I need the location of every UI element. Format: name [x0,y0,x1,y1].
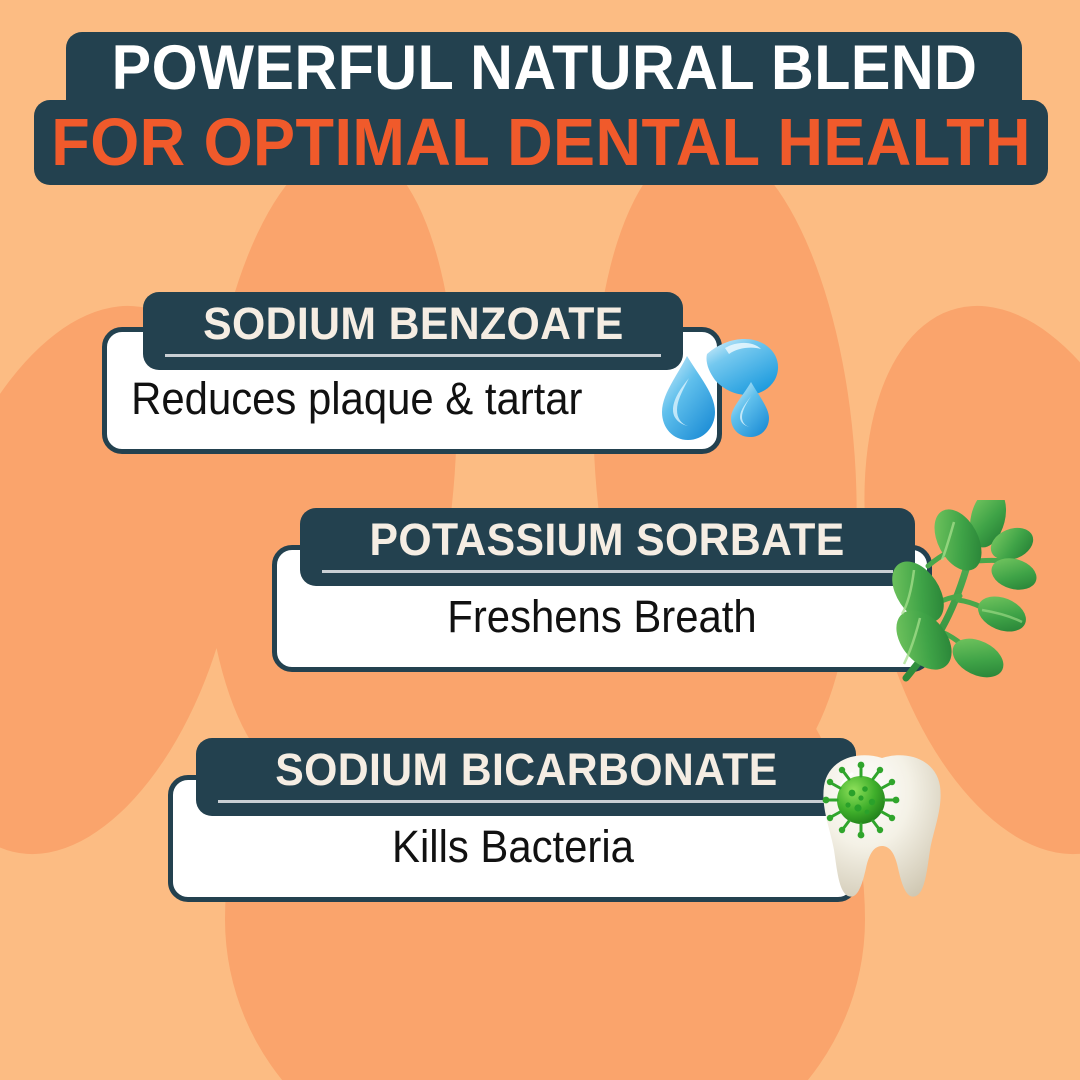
card-header: SODIUM BENZOATE [143,292,683,370]
card-title-underline [322,570,893,573]
headline-bar-bottom: FOR OPTIMAL DENTAL HEALTH [34,100,1048,185]
paw-toe-2 [183,137,477,793]
paw-toe-3 [573,132,878,799]
card-description: Freshens Breath [300,594,905,667]
card-title: SODIUM BICARBONATE [275,746,777,794]
herb-leaf-icon [862,500,1037,685]
tooth-with-bacteria-icon [812,752,952,902]
card-description: Reduces plaque & tartar [107,376,674,449]
card-header: POTASSIUM SORBATE [300,508,915,586]
headline-bar-top: POWERFUL NATURAL BLEND [66,32,1022,107]
poster-canvas: POWERFUL NATURAL BLEND FOR OPTIMAL DENTA… [0,0,1080,1080]
card-title: POTASSIUM SORBATE [370,516,845,564]
card-title: SODIUM BENZOATE [203,300,624,348]
water-droplets-icon [655,322,785,457]
card-title-underline [165,354,661,357]
headline-line-1: POWERFUL NATURAL BLEND [111,37,977,100]
card-header: SODIUM BICARBONATE [196,738,856,816]
card-description: Kills Bacteria [197,824,829,897]
headline-line-2: FOR OPTIMAL DENTAL HEALTH [51,109,1031,176]
card-title-underline [218,800,834,803]
